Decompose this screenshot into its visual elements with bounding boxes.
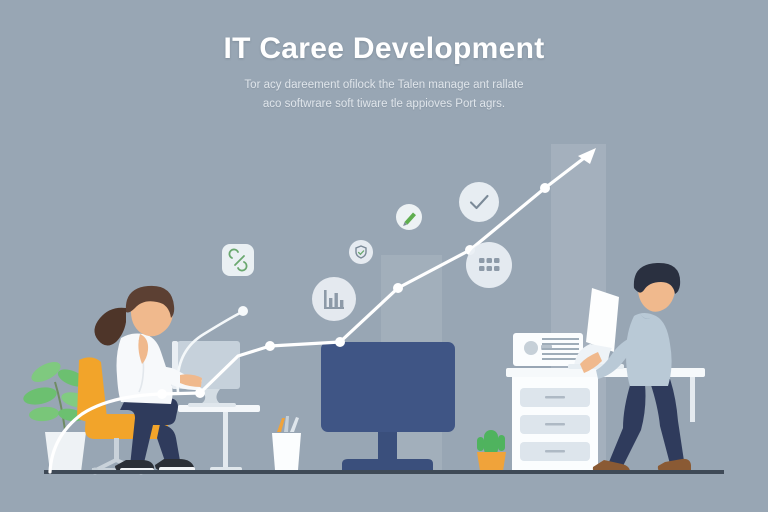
- header-block: IT Caree Development Tor acy dareement o…: [0, 0, 768, 114]
- pen-edit-badge[interactable]: [396, 204, 422, 230]
- subtitle-line-1: Tor acy dareement ofilock the Talen mana…: [0, 76, 768, 95]
- shield-check-badge[interactable]: [349, 240, 373, 264]
- illustration-canvas: IT Caree Development Tor acy dareement o…: [0, 0, 768, 512]
- subtitle-line-2: aco softwrare soft tiware tle appioves P…: [0, 95, 768, 114]
- page-title: IT Caree Development: [0, 0, 768, 65]
- page-subtitle: Tor acy dareement ofilock the Talen mana…: [0, 65, 768, 114]
- bar-chart-badge[interactable]: [312, 277, 356, 321]
- apps-grid-badge[interactable]: [466, 242, 512, 288]
- check-circle-badge[interactable]: [459, 182, 499, 222]
- link-sync-badge[interactable]: [222, 244, 254, 276]
